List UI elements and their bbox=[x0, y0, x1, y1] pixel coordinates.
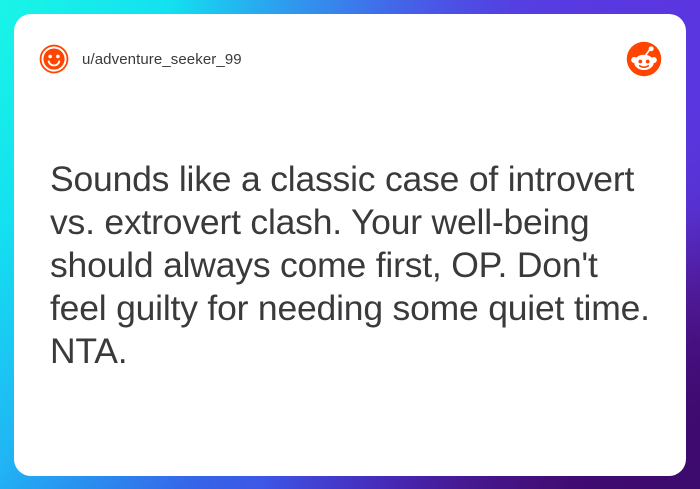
card-header: u/adventure_seeker_99 bbox=[14, 14, 686, 104]
smiley-face-avatar-icon bbox=[39, 44, 69, 74]
avatar bbox=[39, 44, 69, 74]
card-body: Sounds like a classic case of introvert … bbox=[14, 104, 686, 476]
reddit-comment-card: u/adventure_seeker_99 Sounds like a clas… bbox=[14, 14, 686, 476]
screenshot-canvas: u/adventure_seeker_99 Sounds like a clas… bbox=[0, 0, 700, 489]
brand-logo bbox=[626, 41, 662, 77]
username-label: u/adventure_seeker_99 bbox=[82, 51, 242, 68]
reddit-snoo-icon bbox=[626, 41, 662, 77]
post-text: Sounds like a classic case of introvert … bbox=[50, 158, 652, 373]
